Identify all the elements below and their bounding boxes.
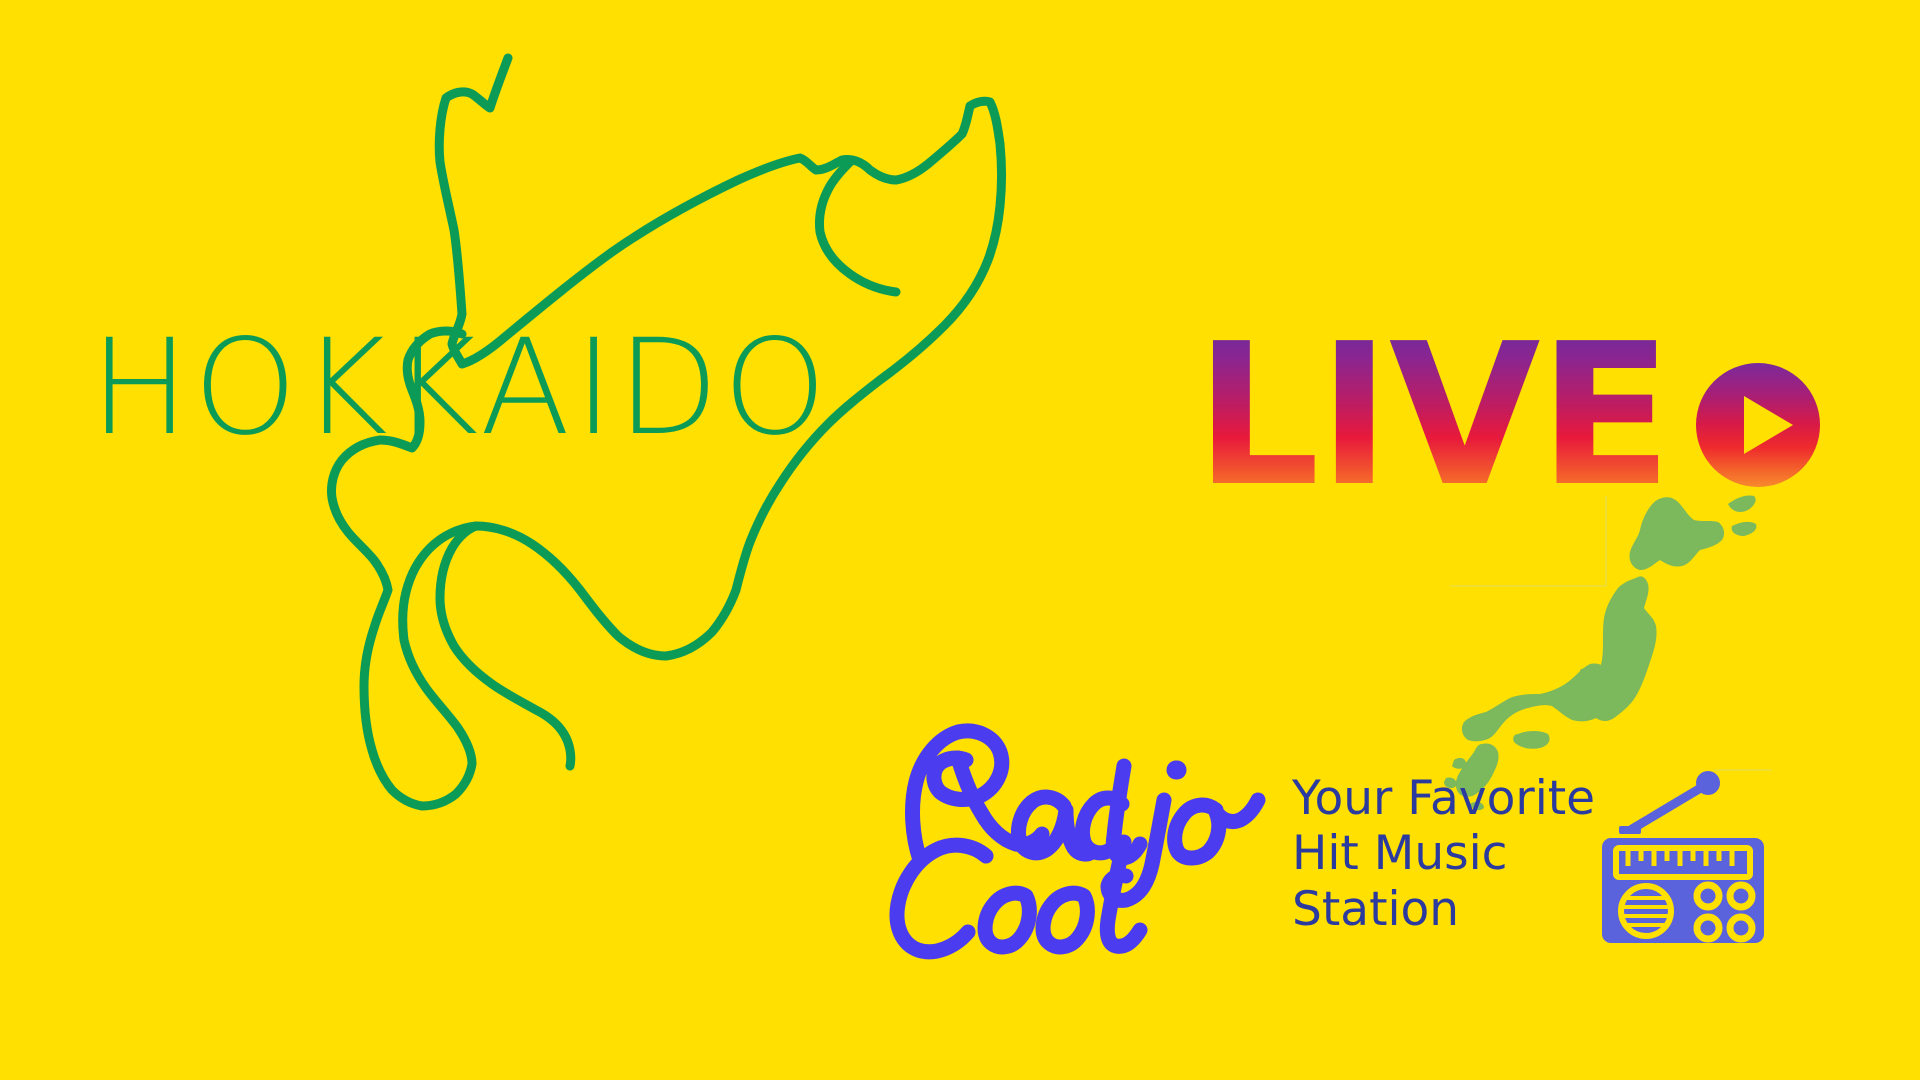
radio-antenna-tip <box>1696 771 1720 795</box>
logo-letter-o <box>1175 800 1258 858</box>
inset-etorofu-shape <box>1732 522 1757 536</box>
brand-lockup: Your Favorite Hit Music Station <box>868 700 1595 972</box>
page-title: HOKKAIDO <box>90 322 831 454</box>
logo-letter-C <box>897 845 986 952</box>
inset-hokkaido-shape <box>1629 497 1724 570</box>
logo-letter-o3 <box>1043 893 1087 947</box>
inset-northern-islands-shape <box>1728 495 1756 512</box>
live-badge[interactable]: LIVE <box>1195 326 1820 506</box>
radio-cool-logo <box>868 700 1274 972</box>
radio-antenna-rod <box>1632 786 1704 829</box>
brand-tagline: Your Favorite Hit Music Station <box>1292 771 1595 937</box>
inset-graticule-line <box>1450 496 1606 586</box>
logo-letter-o2 <box>985 893 1029 947</box>
play-button[interactable] <box>1696 363 1820 487</box>
radio-receiver-icon <box>1588 768 1778 953</box>
radio-antenna-base <box>1619 826 1641 834</box>
play-triangle-icon <box>1744 396 1793 454</box>
poster-canvas: HOKKAIDO LIVE <box>0 0 1920 1080</box>
live-label: LIVE <box>1195 326 1670 506</box>
